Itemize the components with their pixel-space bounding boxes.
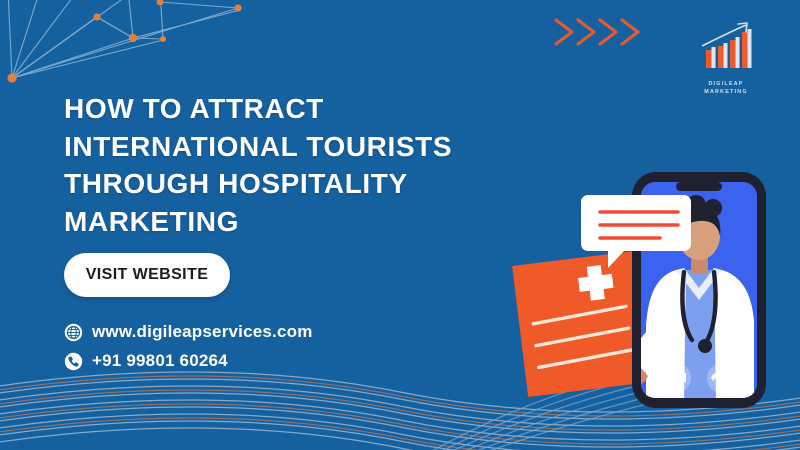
contact-row-website[interactable]: www.digileapservices.com xyxy=(64,322,313,342)
marketing-banner: HOW TO ATTRACT INTERNATIONAL TOURISTS TH… xyxy=(0,0,800,450)
logo-line-1: DIGILEAP xyxy=(684,80,768,88)
phone-icon xyxy=(64,352,83,371)
visit-website-button[interactable]: VISIT WEBSITE xyxy=(64,253,230,297)
website-text: www.digileapservices.com xyxy=(92,322,313,342)
contact-row-phone[interactable]: +91 99801 60264 xyxy=(64,351,313,371)
headline: HOW TO ATTRACT INTERNATIONAL TOURISTS TH… xyxy=(64,90,534,240)
globe-icon xyxy=(64,323,83,342)
brand-logo[interactable]: DIGILEAP MARKETING xyxy=(684,20,768,96)
phone-text: +91 99801 60264 xyxy=(92,351,228,371)
telemedicine-illustration xyxy=(500,150,800,450)
bar-chart-growth-icon xyxy=(684,20,768,74)
medical-document xyxy=(512,251,649,397)
logo-line-2: MARKETING xyxy=(684,88,768,96)
contact-info: www.digileapservices.com +91 99801 60264 xyxy=(64,322,313,380)
